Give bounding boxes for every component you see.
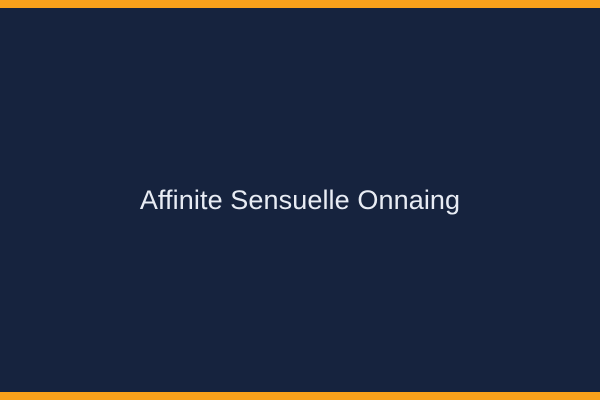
top-accent-bar [0, 0, 600, 8]
bottom-accent-bar [0, 392, 600, 400]
placeholder-caption: Affinite Sensuelle Onnaing [116, 184, 484, 216]
placeholder-card: Affinite Sensuelle Onnaing [0, 0, 600, 400]
